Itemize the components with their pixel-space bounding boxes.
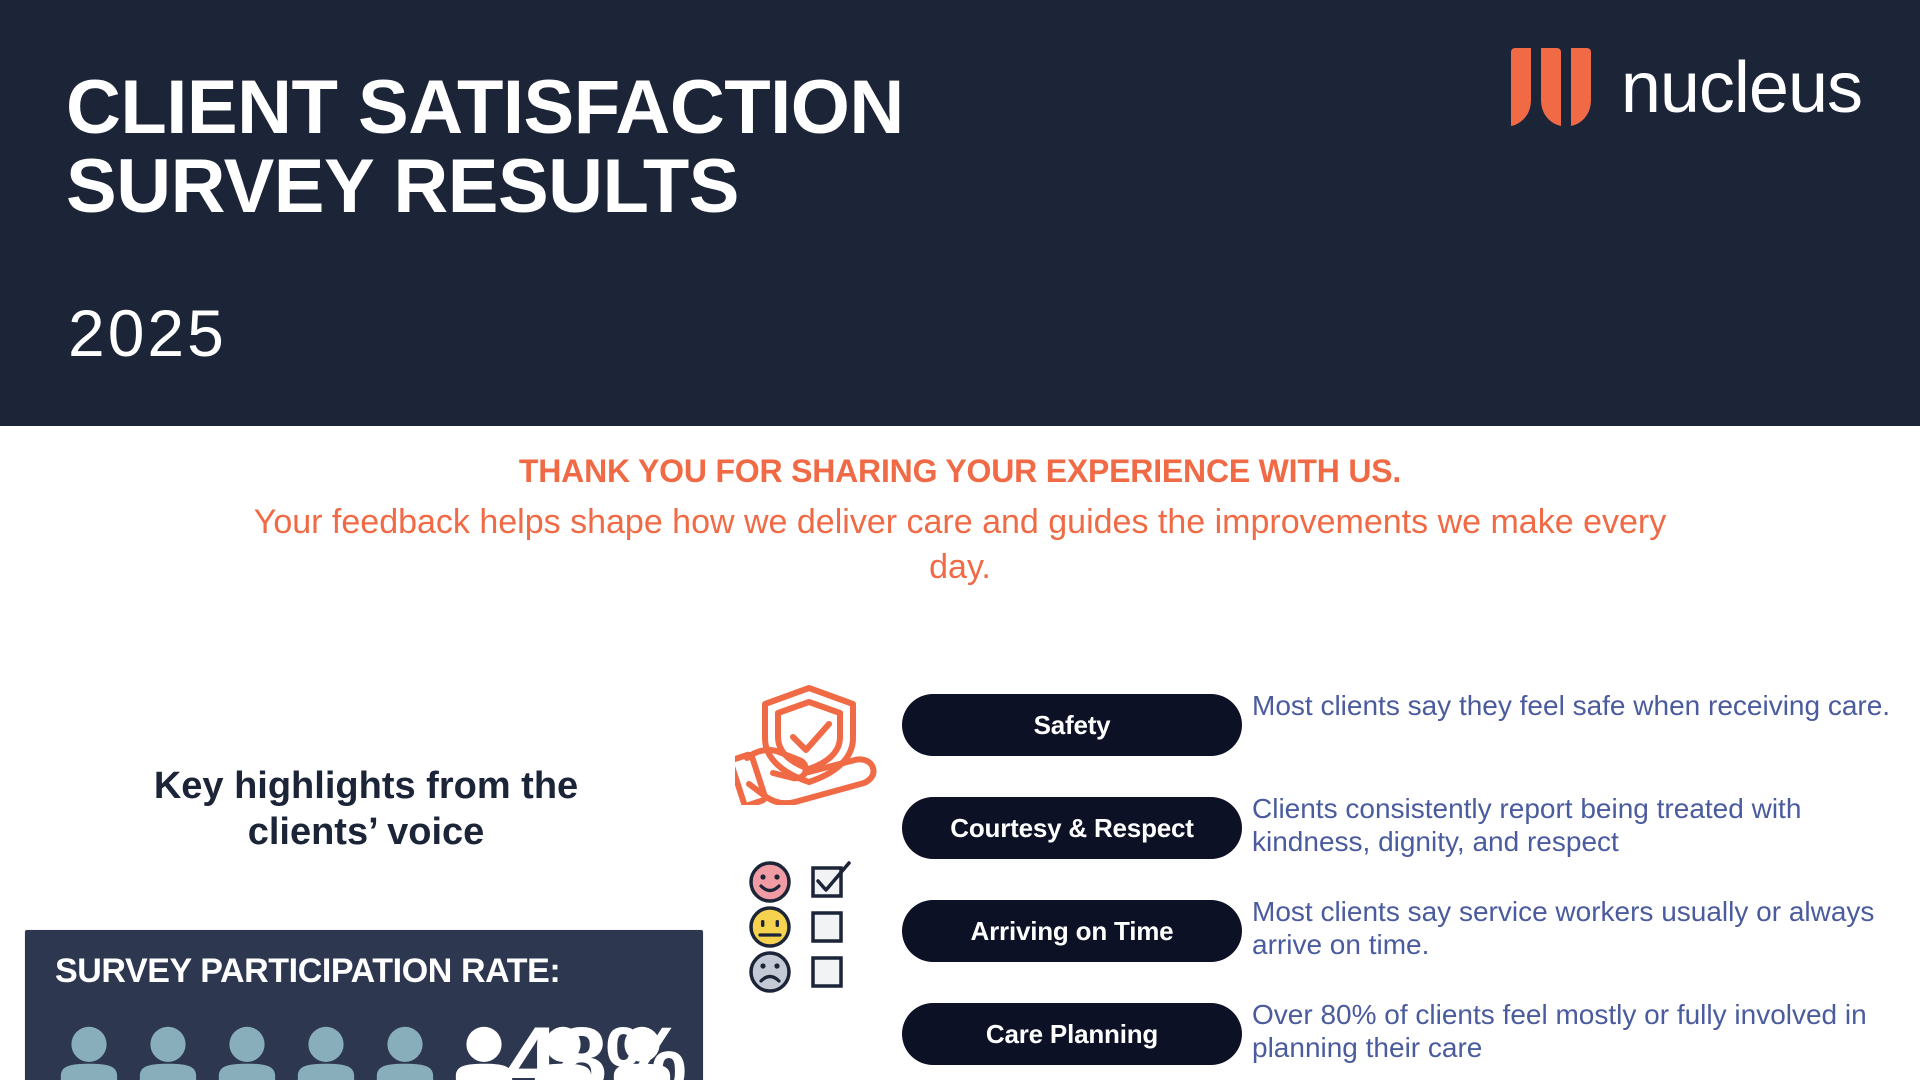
thank-you-block: THANK YOU FOR SHARING YOUR EXPERIENCE WI… <box>0 452 1920 590</box>
thank-you-subtext: Your feedback helps shape how we deliver… <box>0 500 1920 590</box>
person-icon <box>211 1025 283 1080</box>
page-title-line1: CLIENT SATISFACTION <box>66 65 904 150</box>
survey-participation-card: SURVEY PARTICIPATION RATE: 48% <box>25 930 703 1080</box>
description-safety: Most clients say they feel safe when rec… <box>1252 690 1912 793</box>
participation-rate-value: 48% <box>507 1014 685 1080</box>
thank-you-headline: THANK YOU FOR SHARING YOUR EXPERIENCE WI… <box>0 452 1920 490</box>
description-courtesy-respect: Clients consistently report being treate… <box>1252 793 1912 896</box>
pill-courtesy-respect[interactable]: Courtesy & Respect <box>902 797 1242 859</box>
year-label: 2025 <box>68 300 227 366</box>
hand-shield-check-icon <box>735 680 895 805</box>
pill-arriving-on-time[interactable]: Arriving on Time <box>902 900 1242 962</box>
key-highlights-title: Key highlights from the clients’ voice <box>106 763 626 856</box>
pill-safety[interactable]: Safety <box>902 694 1242 756</box>
logo-wordmark: nucleus <box>1621 52 1862 124</box>
description-care-planning: Over 80% of clients feel mostly or fully… <box>1252 999 1912 1080</box>
person-icon <box>53 1025 125 1080</box>
highlight-description-list: Most clients say they feel safe when rec… <box>1252 690 1912 1080</box>
page-title: CLIENT SATISFACTION SURVEY RESULTS <box>66 68 904 226</box>
highlight-pill-list: Safety Courtesy & Respect Arriving on Ti… <box>902 694 1242 1080</box>
person-icon <box>132 1025 204 1080</box>
page-title-line2: SURVEY RESULTS <box>66 147 904 226</box>
person-icon <box>290 1025 362 1080</box>
header-band: CLIENT SATISFACTION SURVEY RESULTS 2025 … <box>0 0 1920 426</box>
poster-page: CLIENT SATISFACTION SURVEY RESULTS 2025 … <box>0 0 1920 1080</box>
smiley-survey-icon <box>745 860 875 995</box>
pill-care-planning[interactable]: Care Planning <box>902 1003 1242 1065</box>
nucleus-logo-mark-icon <box>1511 48 1599 128</box>
participation-rate-label: SURVEY PARTICIPATION RATE: <box>55 952 560 991</box>
person-icon <box>369 1025 441 1080</box>
description-arriving-on-time: Most clients say service workers usually… <box>1252 896 1912 999</box>
nucleus-logo: nucleus <box>1511 48 1862 128</box>
